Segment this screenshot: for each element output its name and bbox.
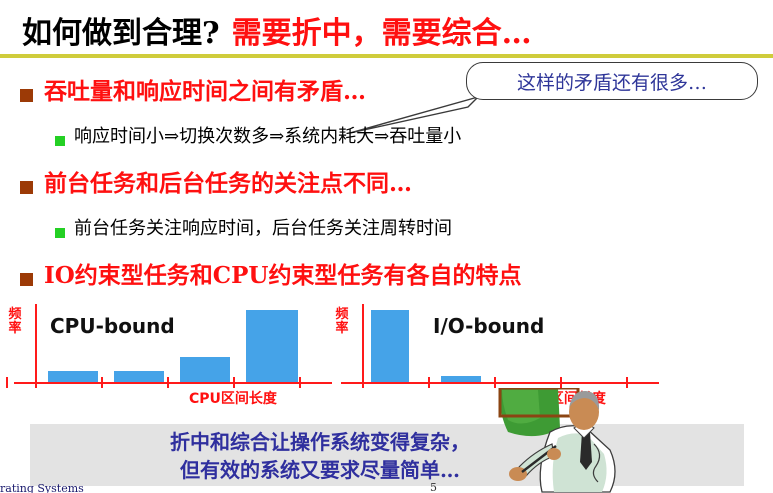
- chart-x-tick: [101, 377, 103, 388]
- footer-label: rating Systems: [0, 482, 84, 493]
- chart-x-axis: [341, 382, 659, 384]
- chart-x-axis: [14, 382, 332, 384]
- green-square-bullet-icon: [55, 228, 65, 238]
- title-divider: [0, 54, 773, 58]
- callout-text: 这样的矛盾还有很多…: [517, 68, 707, 95]
- brown-square-bullet-icon: [20, 181, 33, 194]
- chart-x-axis-label: CPU区间长度: [189, 388, 277, 408]
- chart-y-axis-label: 频率: [333, 308, 351, 335]
- bullet-label: 前台任务关注响应时间，后台任务关注周转时间: [74, 220, 452, 238]
- bullet-item-foreground-background: 前台任务和后台任务的关注点不同…: [20, 172, 412, 195]
- summary-line-2: 但有效的系统又要求尽量简单…: [110, 456, 530, 484]
- callout-bubble: 这样的矛盾还有很多…: [466, 62, 758, 100]
- chart-x-tick: [299, 377, 301, 388]
- chart-bar: [246, 310, 298, 382]
- chart-bar: [441, 376, 481, 382]
- chart-x-tick: [35, 377, 37, 388]
- page-title: 如何做到合理?需要折中，需要综合…: [22, 8, 752, 50]
- bullet-label: IO约束型任务和CPU约束型任务有各自的特点: [44, 264, 521, 287]
- brown-square-bullet-icon: [20, 273, 33, 286]
- bullet-label: 前台任务和后台任务的关注点不同…: [44, 172, 412, 195]
- chart-y-axis: [35, 304, 37, 386]
- chart-y-axis: [362, 304, 364, 386]
- chart-bar: [48, 371, 98, 382]
- title-secondary: 需要折中，需要综合…: [232, 16, 532, 51]
- chart-bar: [114, 371, 164, 382]
- title-primary: 如何做到合理?: [22, 16, 220, 51]
- chart-x-tick: [494, 377, 496, 388]
- chart-bar: [180, 357, 230, 382]
- green-square-bullet-icon: [55, 136, 65, 146]
- chart-title: I/O-bound: [433, 314, 544, 338]
- presenter-clipart-icon: [498, 388, 624, 493]
- chart-x-tick: [167, 377, 169, 388]
- bullet-label: 吞吐量和响应时间之间有矛盾…: [44, 80, 366, 103]
- bullet-item-throughput: 吞吐量和响应时间之间有矛盾…: [20, 80, 366, 103]
- slide-canvas: 如何做到合理?需要折中，需要综合… 这样的矛盾还有很多… 吞吐量和响应时间之间有…: [0, 0, 773, 493]
- bullet-item-io-cpu-bound: IO约束型任务和CPU约束型任务有各自的特点: [20, 264, 521, 287]
- chart-x-tick: [560, 377, 562, 388]
- chart-x-tick: [6, 377, 8, 388]
- chart-title: CPU-bound: [50, 314, 175, 338]
- bullet-item-response-time-chain: 响应时间小⇒切换次数多⇒系统内耗大⇒吞吐量小: [55, 128, 461, 146]
- chart-x-tick: [626, 377, 628, 388]
- bullet-label: 响应时间小⇒切换次数多⇒系统内耗大⇒吞吐量小: [74, 128, 461, 146]
- bullet-item-foreground-focus: 前台任务关注响应时间，后台任务关注周转时间: [55, 220, 452, 238]
- chart-x-tick: [428, 377, 430, 388]
- page-number: 5: [430, 481, 437, 493]
- chart-x-tick: [362, 377, 364, 388]
- brown-square-bullet-icon: [20, 89, 33, 102]
- chart-y-axis-label: 频率: [6, 308, 24, 335]
- chart-cpu-bound: 频率 CPU-bound CPU区间长度: [6, 302, 336, 410]
- summary-text: 折中和综合让操作系统变得复杂， 但有效的系统又要求尽量简单…: [110, 428, 530, 484]
- chart-x-tick: [233, 377, 235, 388]
- summary-line-1: 折中和综合让操作系统变得复杂，: [110, 428, 530, 456]
- chart-bar: [371, 310, 409, 382]
